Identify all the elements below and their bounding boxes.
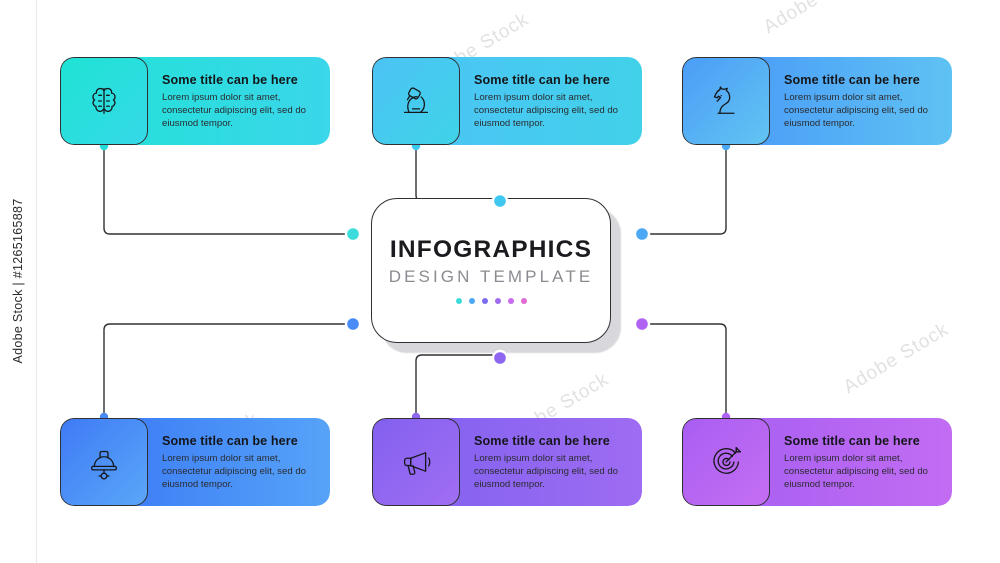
step-6-title: Some title can be here <box>784 434 938 448</box>
step-1-body: Some title can be here Lorem ipsum dolor… <box>134 57 330 145</box>
step-5-title: Some title can be here <box>474 434 628 448</box>
step-card-3[interactable]: Some title can be here Lorem ipsum dolor… <box>682 57 952 145</box>
step-4-title: Some title can be here <box>162 434 316 448</box>
megaphone-icon <box>395 441 437 483</box>
step-5-body: Some title can be here Lorem ipsum dolor… <box>446 418 642 506</box>
step-3-icon-box <box>682 57 770 145</box>
step-card-4[interactable]: Some title can be here Lorem ipsum dolor… <box>60 418 330 506</box>
step-card-5[interactable]: Some title can be here Lorem ipsum dolor… <box>372 418 642 506</box>
step-4-text: Lorem ipsum dolor sit amet, consectetur … <box>162 452 312 492</box>
target-dart-icon <box>705 441 747 483</box>
step-2-title: Some title can be here <box>474 73 628 87</box>
microscope-icon <box>395 80 437 122</box>
watermark-id-text: Adobe Stock | #1265165887 <box>11 198 25 363</box>
step-4-body: Some title can be here Lorem ipsum dolor… <box>134 418 330 506</box>
step-1-icon-box <box>60 57 148 145</box>
step-6-icon-box <box>682 418 770 506</box>
helmet-gear-icon <box>83 441 125 483</box>
hub-node-top-right <box>635 227 649 241</box>
step-card-2[interactable]: Some title can be here Lorem ipsum dolor… <box>372 57 642 145</box>
step-card-1[interactable]: Some title can be here Lorem ipsum dolor… <box>60 57 330 145</box>
step-3-title: Some title can be here <box>784 73 938 87</box>
step-1-text: Lorem ipsum dolor sit amet, consectetur … <box>162 91 312 131</box>
step-5-icon-box <box>372 418 460 506</box>
step-2-body: Some title can be here Lorem ipsum dolor… <box>446 57 642 145</box>
infographic-canvas: INFOGRAPHICS DESIGN TEMPLATE <box>0 0 1000 563</box>
step-3-text: Lorem ipsum dolor sit amet, consectetur … <box>784 91 934 131</box>
hub-node-top-left <box>346 227 360 241</box>
step-3-body: Some title can be here Lorem ipsum dolor… <box>756 57 952 145</box>
step-2-icon-box <box>372 57 460 145</box>
hub-node-bottom-left <box>346 317 360 331</box>
step-card-6[interactable]: Some title can be here Lorem ipsum dolor… <box>682 418 952 506</box>
brain-icon <box>83 80 125 122</box>
step-4-icon-box <box>60 418 148 506</box>
step-5-text: Lorem ipsum dolor sit amet, consectetur … <box>474 452 624 492</box>
hub-node-top-center <box>493 194 507 208</box>
hub-node-bottom-right <box>635 317 649 331</box>
step-6-text: Lorem ipsum dolor sit amet, consectetur … <box>784 452 934 492</box>
step-2-text: Lorem ipsum dolor sit amet, consectetur … <box>474 91 624 131</box>
step-1-title: Some title can be here <box>162 73 316 87</box>
hub-node-bottom-center <box>493 351 507 365</box>
chess-knight-icon <box>705 80 747 122</box>
step-6-body: Some title can be here Lorem ipsum dolor… <box>756 418 952 506</box>
